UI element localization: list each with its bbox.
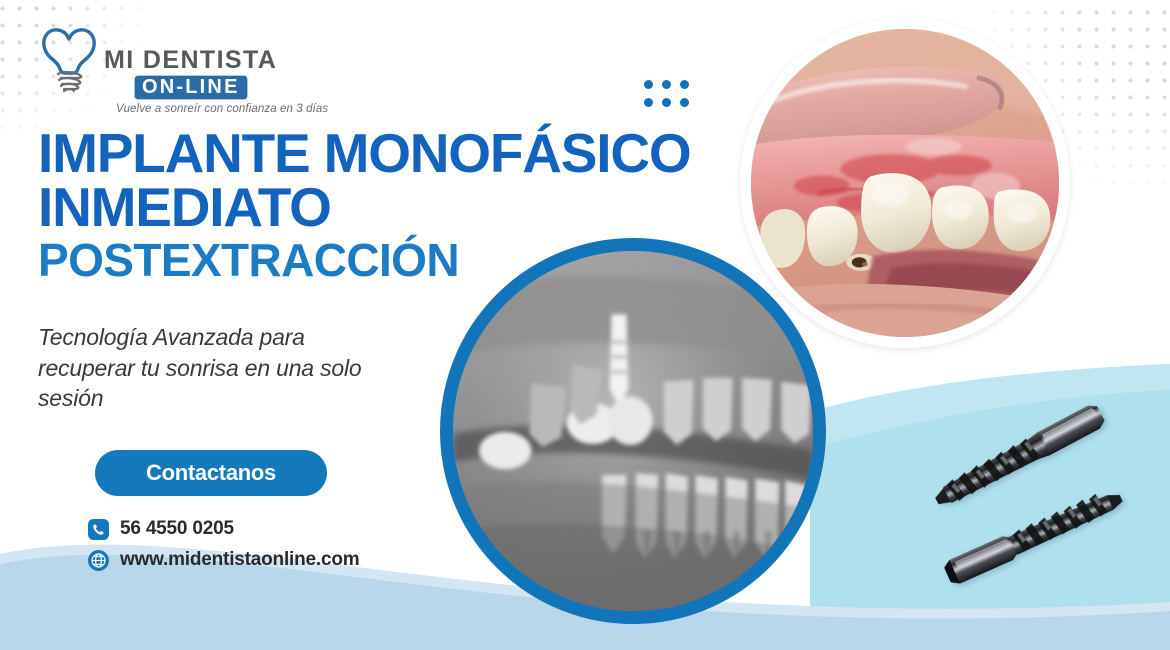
headline-line-2: INMEDIATO bbox=[38, 180, 738, 234]
headline-line-1: IMPLANTE MONOFÁSICO bbox=[38, 126, 738, 180]
brand-logo[interactable]: MI DENTISTA ON-LINE Vuelve a sonreír con… bbox=[38, 22, 308, 102]
contact-row-website[interactable]: www.midentistaonline.com bbox=[88, 549, 359, 571]
marketing-banner: MI DENTISTA ON-LINE Vuelve a sonreír con… bbox=[0, 0, 1170, 650]
website-url: www.midentistaonline.com bbox=[120, 549, 359, 571]
contact-button[interactable]: Contactanos bbox=[95, 450, 327, 496]
dental-implant-screws-photo bbox=[904, 378, 1164, 608]
contact-row-phone[interactable]: 56 4550 0205 bbox=[88, 518, 359, 540]
globe-icon bbox=[88, 550, 109, 571]
six-dot-grid-decoration bbox=[644, 80, 689, 107]
logo-tagline: Vuelve a sonreír con confianza en 3 días bbox=[116, 103, 328, 115]
logo-title: MI DENTISTA bbox=[104, 46, 277, 75]
clinical-photo-circle bbox=[740, 18, 1070, 348]
subtitle-text: Tecnología Avanzada para recuperar tu so… bbox=[38, 322, 368, 414]
phone-icon bbox=[88, 519, 109, 540]
phone-number: 56 4550 0205 bbox=[120, 518, 234, 540]
contact-info: 56 4550 0205 www.midentistaonline.com bbox=[88, 518, 359, 580]
logo-badge-label: ON-LINE bbox=[142, 77, 240, 97]
logo-badge: ON-LINE bbox=[133, 74, 249, 101]
tooth-implant-icon bbox=[38, 24, 100, 94]
intraoral-clinical-photo bbox=[751, 29, 1059, 337]
